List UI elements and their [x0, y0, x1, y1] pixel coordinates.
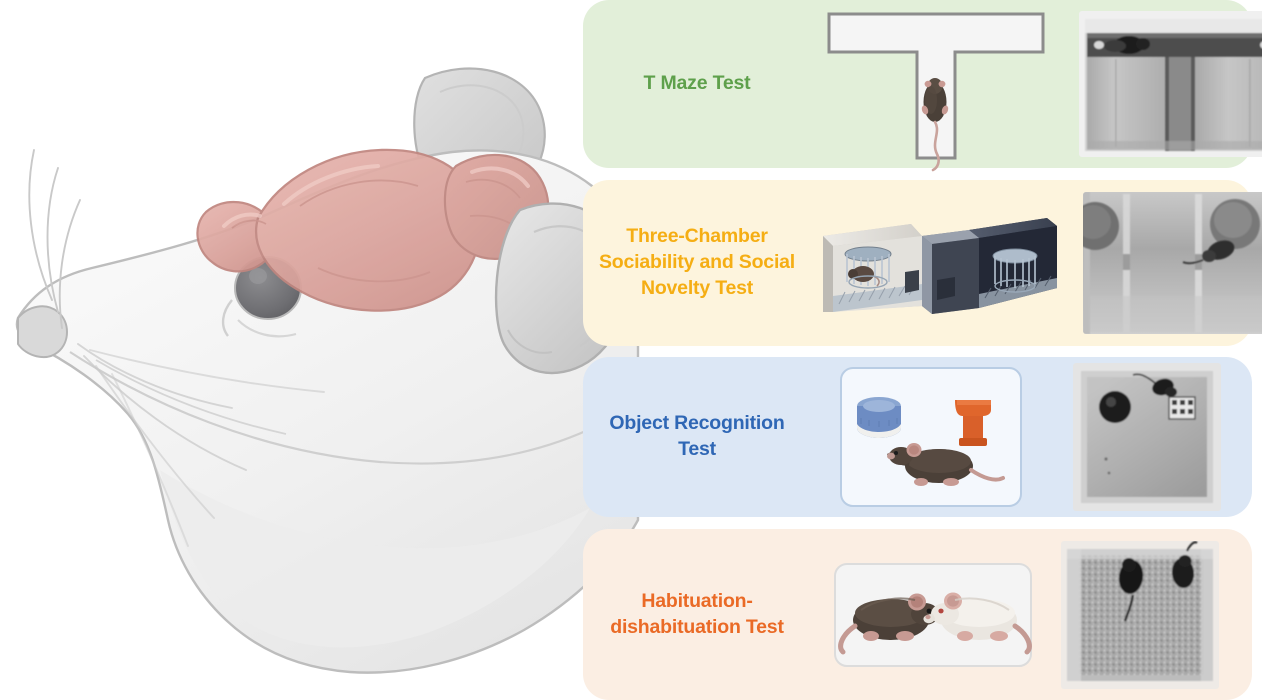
chamber-middle-gray: [922, 230, 979, 314]
mouse-head-illustration: [0, 0, 640, 700]
three-chamber-apparatus-diagram: [819, 208, 1059, 318]
t-maze-diagram: [825, 6, 1047, 162]
panel-art-three-chamber: [811, 180, 1252, 346]
panel-t-maze: T Maze Test: [583, 0, 1252, 168]
panel-art-t-maze: [811, 0, 1252, 168]
three-chamber-photograph: [1083, 192, 1262, 334]
panel-object-recognition: Object Recognition Test: [583, 357, 1252, 517]
panel-label-three-chamber: Three-Chamber Sociability and Social Nov…: [583, 224, 811, 302]
habituation-dishabituation-diagram: [833, 562, 1033, 668]
panel-habituation-dishabituation: Habituation-dishabituation Test: [583, 529, 1252, 700]
behavioral-test-overview-figure: T Maze Test: [0, 0, 1262, 700]
object-recognition-diagram: [839, 366, 1023, 508]
panel-label-habituation: Habituation-dishabituation Test: [583, 589, 811, 641]
panel-three-chamber: Three-Chamber Sociability and Social Nov…: [583, 180, 1252, 346]
chamber-right-dark: [969, 218, 1057, 308]
habituation-photograph: [1061, 541, 1219, 689]
panel-label-object-recognition: Object Recognition Test: [583, 411, 811, 463]
chamber-left-light: [823, 224, 922, 312]
t-maze-photograph: [1079, 11, 1262, 157]
panel-art-object-recognition: [811, 357, 1252, 517]
object-recognition-photograph: [1073, 363, 1221, 511]
panel-label-t-maze: T Maze Test: [583, 71, 811, 97]
object-blue-jar: [857, 397, 901, 438]
panel-art-habituation: [811, 529, 1252, 700]
